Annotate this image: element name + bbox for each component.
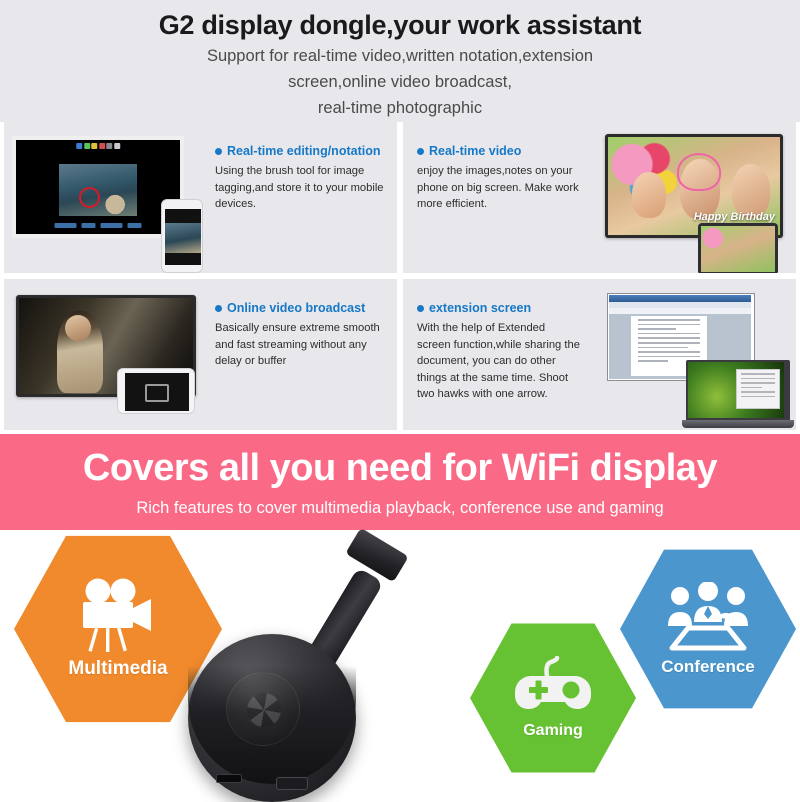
feature-body: Using the brush tool for image tagging,a…	[215, 163, 387, 213]
bullet-icon	[417, 305, 424, 312]
window-toolbar	[609, 308, 751, 314]
banner-title: Covers all you need for WiFi display	[83, 446, 717, 490]
use-case-hex-gaming: Gaming	[470, 622, 636, 774]
feature-text: extension screen With the help of Extend…	[403, 279, 591, 430]
subtitle-line-2: screen,online video broadcast,	[0, 71, 800, 94]
page-title: G2 display dongle,your work assistant	[0, 8, 800, 42]
feature-image-extended-desktop	[591, 279, 796, 430]
feature-text: Real-time editing/notation Using the bru…	[209, 122, 397, 273]
use-case-hex-conference: Conference	[620, 548, 796, 710]
feature-text: Online video broadcast Basically ensure …	[209, 279, 397, 430]
tablet-screen	[701, 226, 775, 272]
product-intro-section: G2 display dongle,your work assistant Su…	[0, 0, 800, 434]
micro-usb-port	[216, 774, 242, 783]
feature-title-label: Real-time video	[429, 144, 521, 158]
use-cases-section: Multimedia Gaming Conference	[0, 530, 800, 800]
gamepad-icon	[513, 656, 593, 718]
banner-subtitle: Rich features to cover multimedia playba…	[136, 497, 663, 519]
subtitle-line-3: real-time photographic	[0, 97, 800, 120]
editor-controls-icon	[55, 223, 142, 228]
bullet-icon	[417, 148, 424, 155]
movie-camera-icon	[75, 578, 161, 652]
tv-illustration	[12, 136, 184, 238]
photo-caption: Happy Birthday	[694, 211, 775, 223]
feature-card-real-time-editing: Real-time editing/notation Using the bru…	[4, 122, 397, 273]
laptop-base	[682, 420, 794, 428]
feature-title: Real-time video	[417, 144, 581, 158]
bullet-icon	[215, 148, 222, 155]
feature-card-real-time-video: Happy Birthday Real-time video enjoy the…	[403, 122, 796, 273]
feature-title: Real-time editing/notation	[215, 144, 387, 158]
laptop-illustration	[686, 360, 790, 428]
promo-banner: Covers all you need for WiFi display Ric…	[0, 434, 800, 530]
laptop-window	[736, 369, 780, 409]
tv-screen	[16, 140, 180, 234]
phone-screen	[125, 373, 189, 411]
laptop-screen	[688, 362, 784, 418]
feature-title: extension screen	[417, 301, 581, 315]
tv-screen: Happy Birthday	[608, 137, 780, 235]
bullet-icon	[215, 305, 222, 312]
aperture-shutter-icon	[226, 672, 300, 746]
feature-card-extension-screen: extension screen With the help of Extend…	[403, 279, 796, 430]
feature-title-label: extension screen	[429, 301, 531, 315]
feature-body: Basically ensure extreme smooth and fast…	[215, 320, 387, 370]
product-dongle-image	[168, 534, 488, 800]
feature-card-online-broadcast: Online video broadcast Basically ensure …	[4, 279, 397, 430]
edited-photo-thumbnail	[59, 164, 137, 216]
phone-screen	[165, 209, 201, 265]
use-case-label: Gaming	[523, 722, 583, 740]
meeting-table-icon	[662, 582, 754, 654]
feature-title-label: Online video broadcast	[227, 301, 365, 315]
feature-image-movie	[4, 279, 209, 430]
child-figure	[632, 172, 666, 218]
movie-character	[57, 311, 103, 393]
feature-body: enjoy the images,notes on your phone on …	[417, 163, 581, 213]
use-case-label: Conference	[661, 657, 755, 677]
feature-image-photo-editor	[4, 122, 209, 273]
feature-title-label: Real-time editing/notation	[227, 144, 380, 158]
feature-title: Online video broadcast	[215, 301, 387, 315]
phone-illustration	[161, 199, 203, 273]
reset-button[interactable]	[276, 777, 308, 790]
window-titlebar	[609, 295, 751, 302]
heart-overlay-icon	[677, 153, 721, 191]
feature-grid: Real-time editing/notation Using the bru…	[0, 122, 800, 434]
feature-image-birthday: Happy Birthday	[591, 122, 796, 273]
feature-text: Real-time video enjoy the images,notes o…	[403, 122, 591, 273]
use-case-label: Multimedia	[68, 658, 167, 680]
editor-toolbar-icon	[76, 143, 120, 149]
tablet-illustration	[698, 223, 778, 273]
subtitle-line-1: Support for real-time video,written nota…	[0, 45, 800, 68]
phone-illustration	[117, 368, 195, 414]
feature-body: With the help of Extended screen functio…	[417, 320, 581, 403]
